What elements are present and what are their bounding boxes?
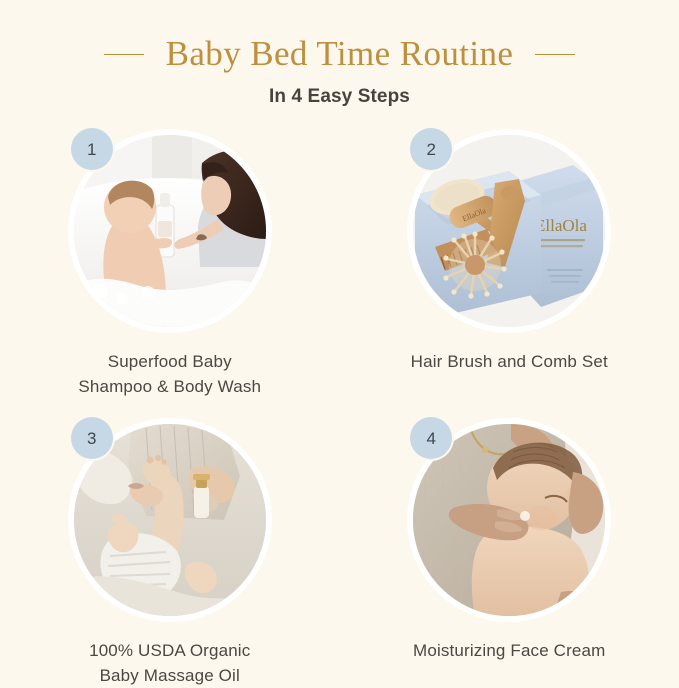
step-2: EllaOla: [340, 130, 679, 399]
step-4: 4 Moisturizing Face Cream: [340, 419, 679, 688]
step-2-number: 2: [427, 141, 436, 158]
step-1-caption: Superfood Baby Shampoo & Body Wash: [78, 349, 261, 399]
step-1-number: 1: [87, 141, 96, 158]
step-1: 1 Superfood Baby Shampoo & Body Wash: [0, 130, 340, 399]
title-rule-right: [535, 54, 575, 55]
steps-grid: 1 Superfood Baby Shampoo & Body Wash: [0, 130, 679, 688]
step-2-badge: 2: [410, 128, 452, 170]
step-3-photo-wrap: 3: [69, 419, 271, 621]
step-4-photo-wrap: 4: [408, 419, 610, 621]
title-row: Baby Bed Time Routine: [0, 34, 679, 74]
infographic-root: Baby Bed Time Routine In 4 Easy Steps: [0, 0, 679, 679]
page-subtitle: In 4 Easy Steps: [0, 86, 679, 108]
step-2-caption: Hair Brush and Comb Set: [411, 349, 608, 374]
page-title: Baby Bed Time Routine: [166, 34, 514, 74]
title-rule-left: [104, 54, 144, 55]
step-1-badge: 1: [71, 128, 113, 170]
header: Baby Bed Time Routine In 4 Easy Steps: [0, 0, 679, 108]
step-3: 3 100% USDA Organic Baby Massage Oil: [0, 419, 340, 688]
step-4-caption: Moisturizing Face Cream: [413, 638, 605, 663]
step-3-badge: 3: [71, 417, 113, 459]
svg-text:EllaOla: EllaOla: [535, 216, 587, 235]
step-3-number: 3: [87, 430, 96, 447]
step-1-photo-wrap: 1: [69, 130, 271, 332]
step-2-photo-wrap: EllaOla: [408, 130, 610, 332]
step-4-badge: 4: [410, 417, 452, 459]
step-3-caption: 100% USDA Organic Baby Massage Oil: [89, 638, 250, 688]
step-4-number: 4: [427, 430, 436, 447]
